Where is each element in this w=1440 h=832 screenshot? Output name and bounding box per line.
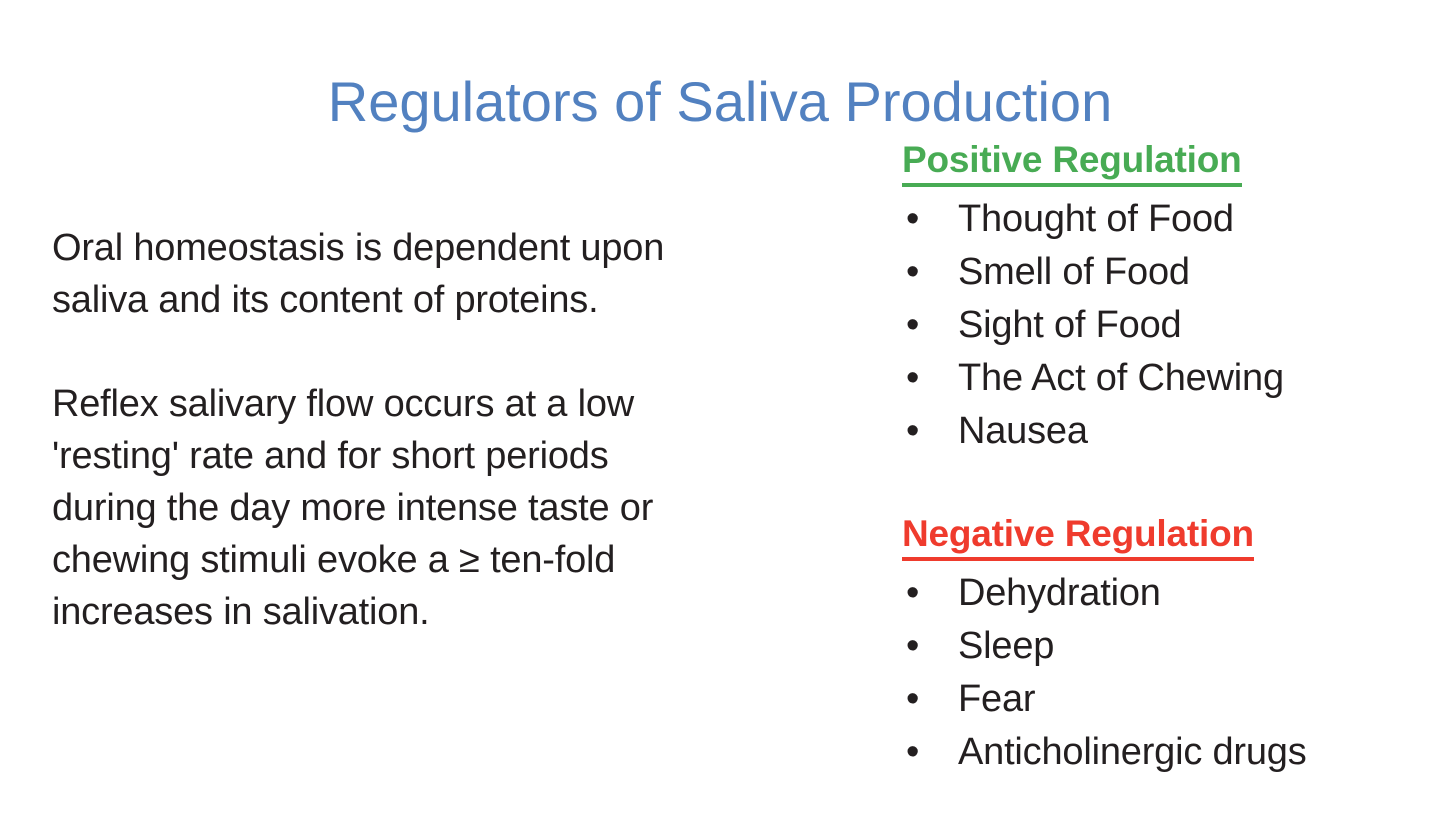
list-item-label: Anticholinergic drugs	[958, 731, 1307, 773]
list-item-label: Sleep	[958, 625, 1054, 667]
list-item-label: Sight of Food	[958, 304, 1181, 346]
list-item-label: Fear	[958, 678, 1035, 720]
bullet-icon: •	[906, 352, 919, 405]
list-item-label: The Act of Chewing	[958, 357, 1284, 399]
bullet-icon: •	[906, 567, 919, 620]
bullet-icon: •	[906, 246, 919, 299]
list-item-label: Thought of Food	[958, 198, 1234, 240]
bullet-icon: •	[906, 193, 919, 246]
list-item-label: Nausea	[958, 410, 1088, 452]
list-item: • The Act of Chewing	[902, 352, 1422, 405]
slide-canvas: Regulators of Saliva Production Oral hom…	[0, 0, 1440, 832]
positive-regulation-heading: Positive Regulation	[902, 138, 1242, 187]
negative-regulation-list: • Dehydration • Sleep • Fear • Anticholi…	[902, 567, 1422, 779]
list-item: • Thought of Food	[902, 193, 1422, 246]
list-item: • Sleep	[902, 620, 1422, 673]
bullet-icon: •	[906, 299, 919, 352]
paragraph-spacer	[52, 326, 712, 378]
list-item: • Dehydration	[902, 567, 1422, 620]
list-item: • Nausea	[902, 405, 1422, 458]
positive-regulation-list: • Thought of Food • Smell of Food • Sigh…	[902, 193, 1422, 458]
bullet-icon: •	[906, 405, 919, 458]
bullet-icon: •	[906, 726, 919, 779]
list-item: • Anticholinergic drugs	[902, 726, 1422, 779]
page-title: Regulators of Saliva Production	[0, 70, 1440, 134]
bullet-icon: •	[906, 620, 919, 673]
list-item-label: Smell of Food	[958, 251, 1190, 293]
negative-regulation-heading: Negative Regulation	[902, 512, 1254, 561]
list-item: • Fear	[902, 673, 1422, 726]
list-item: • Sight of Food	[902, 299, 1422, 352]
section-spacer	[902, 458, 1422, 512]
paragraph-reflex-salivary-flow: Reflex salivary flow occurs at a low 're…	[52, 378, 712, 638]
list-item: • Smell of Food	[902, 246, 1422, 299]
paragraph-oral-homeostasis: Oral homeostasis is dependent upon saliv…	[52, 222, 712, 326]
list-item-label: Dehydration	[958, 572, 1161, 614]
left-text-column: Oral homeostasis is dependent upon saliv…	[52, 222, 712, 638]
right-regulation-column: Positive Regulation • Thought of Food • …	[902, 138, 1422, 779]
bullet-icon: •	[906, 673, 919, 726]
